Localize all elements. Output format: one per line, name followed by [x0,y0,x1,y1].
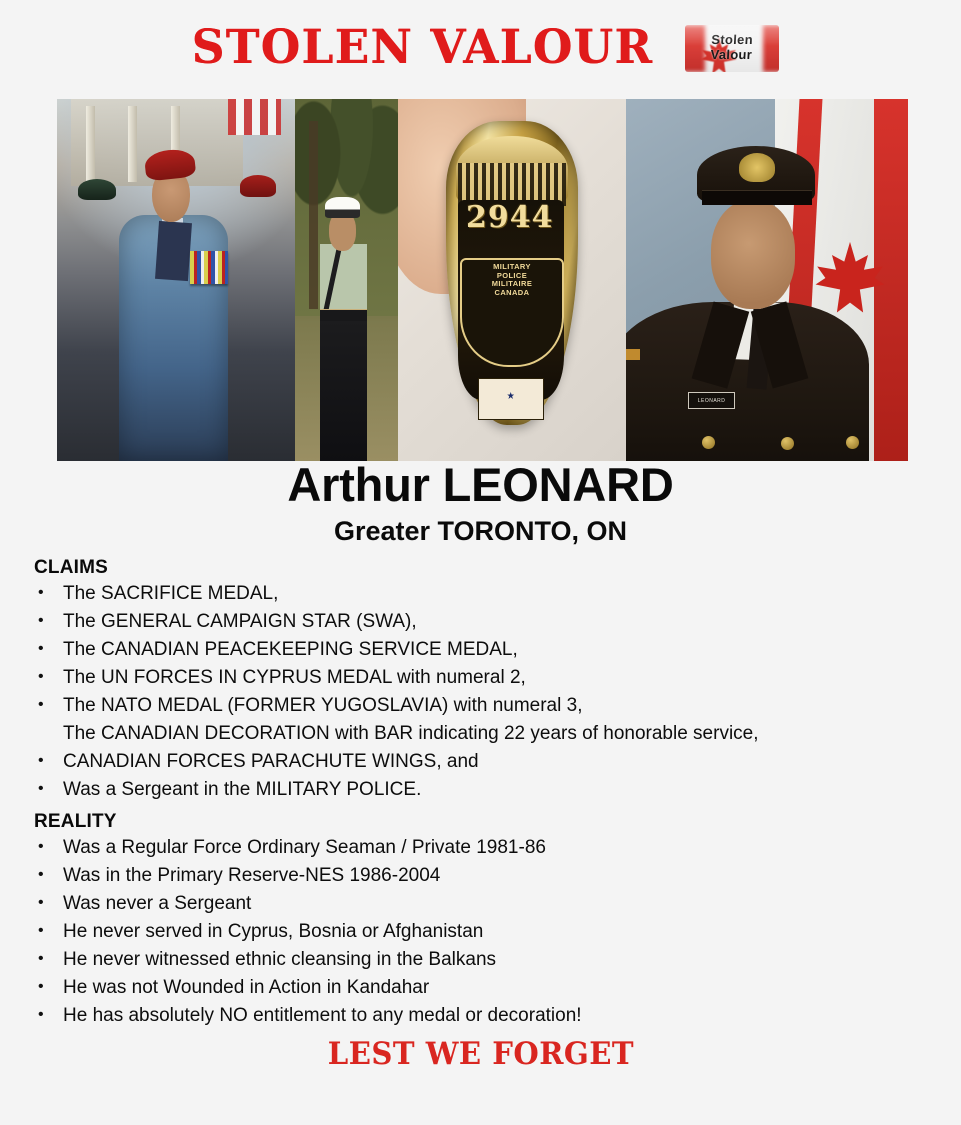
claim-item: The GENERAL CAMPAIGN STAR (SWA), [34,608,961,636]
portrait-shoulder-flash [626,349,640,360]
logo-text: Stolen Valour [710,32,753,62]
mp-uniform [320,244,367,461]
ring-flag-tab [478,378,544,420]
reality-section: REALITY Was a Regular Force Ordinary Sea… [0,811,961,1030]
claim-item: The UN FORCES IN CYPRUS MEDAL with numer… [34,664,961,692]
flag-band-right [763,25,779,72]
cap-chin-strap [702,190,812,205]
veteran-medal-rack [190,251,228,284]
photo-vintage-military-police [295,99,398,461]
green-beret [78,179,116,201]
reality-heading: REALITY [34,811,961,833]
claim-item: The CANADIAN PEACEKEEPING SERVICE MEDAL, [34,636,961,664]
stolen-valour-logo: Stolen Valour [685,25,779,72]
claim-item: The NATO MEDAL (FORMER YUGOSLAVIA) with … [34,692,961,720]
tunic-button [702,436,715,449]
reality-item: Was a Regular Force Ordinary Seaman / Pr… [34,834,961,862]
photo-official-portrait: LEONARD [626,99,908,461]
red-beret-bystander [240,175,276,197]
claims-heading: CLAIMS [34,557,961,579]
tree-trunk [309,121,317,309]
person-location: Greater TORONTO, ON [0,516,961,547]
white-cap-icon [325,197,360,219]
reality-item: He has absolutely NO entitlement to any … [34,1002,961,1030]
page-footer: LEST WE FORGET [0,1036,961,1072]
uniform-nametag: LEONARD [688,392,735,409]
claims-section: CLAIMS The SACRIFICE MEDAL,The GENERAL C… [0,557,961,804]
claim-item: CANADIAN FORCES PARACHUTE WINGS, and [34,748,961,776]
claims-list: The SACRIFICE MEDAL,The GENERAL CAMPAIGN… [34,580,961,804]
person-name: Arthur LEONARD [0,460,961,509]
reality-item: He never served in Cyprus, Bosnia or Afg… [34,918,961,946]
reality-list: Was a Regular Force Ordinary Seaman / Pr… [34,834,961,1030]
claim-item: The CANADIAN DECORATION with BAR indicat… [34,720,961,748]
reality-item: He never witnessed ethnic cleansing in t… [34,946,961,974]
claim-item: Was a Sergeant in the MILITARY POLICE. [34,776,961,804]
logo-text-line2: Valour [710,47,752,62]
page-title: STOLEN VALOUR [192,24,654,71]
claim-item: The SACRIFICE MEDAL, [34,580,961,608]
reality-item: Was in the Primary Reserve-NES 1986-2004 [34,862,961,890]
tunic-button [846,436,859,449]
photo-parade-veteran [57,99,295,461]
veteran-tie [155,221,192,281]
parade-flags [228,99,280,135]
mp-shield-icon: MILITARYPOLICEMILITAIRECANADA [460,258,565,367]
mp-belt [320,309,367,321]
reality-item: Was never a Sergeant [34,890,961,918]
person-identity-block: Arthur LEONARD Greater TORONTO, ON [0,460,961,547]
cap-badge-icon [739,153,776,182]
photo-strip: 2944 MILITARYPOLICEMILITAIRECANADA LEONA… [57,99,908,461]
footer-text: LEST WE FORGET [327,1036,633,1072]
ring-number: 2944 [423,200,596,235]
photo-military-police-ring: 2944 MILITARYPOLICEMILITAIRECANADA [398,99,626,461]
reality-item: He was not Wounded in Action in Kandahar [34,974,961,1002]
portrait-face [711,200,796,309]
page-header: STOLEN VALOUR Stolen Valour [0,0,961,78]
logo-text-line1: Stolen [711,32,753,47]
maple-leaf-icon [809,237,891,319]
